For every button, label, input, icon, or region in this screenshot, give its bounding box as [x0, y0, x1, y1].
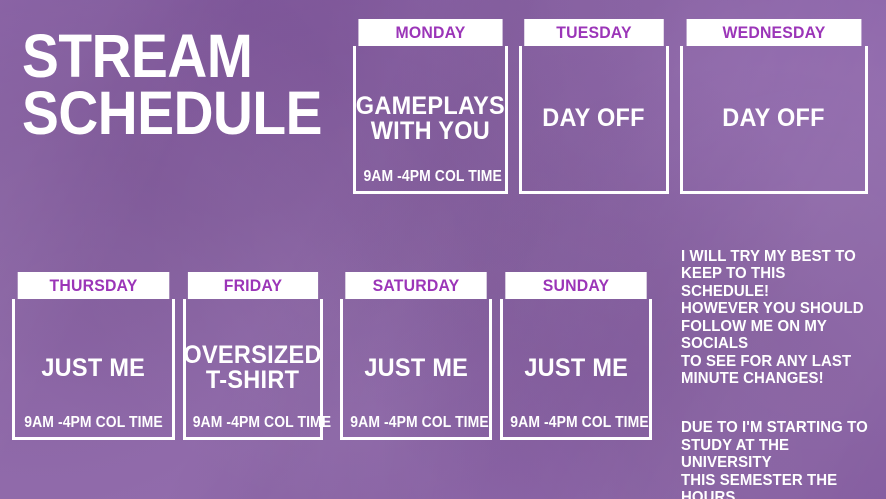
schedule-card-sunday: SUNDAY JUST ME 9AM -4PM COL TIME	[500, 272, 652, 440]
card-body-wednesday: DAY OFF	[680, 46, 868, 194]
activity-sunday: JUST ME	[524, 356, 628, 381]
schedule-card-saturday: SATURDAY JUST ME 9AM -4PM COL TIME	[340, 272, 492, 440]
day-label-sunday: SUNDAY	[505, 272, 646, 299]
schedule-card-tuesday: TUESDAY DAY OFF	[519, 19, 669, 194]
schedule-card-friday: FRIDAY OVERSIZED T-SHIRT 9AM -4PM COL TI…	[183, 272, 323, 440]
time-sunday: 9AM -4PM COL TIME	[510, 415, 641, 431]
day-label-friday: FRIDAY	[188, 272, 318, 299]
schedule-card-wednesday: WEDNESDAY DAY OFF	[680, 19, 868, 194]
time-thursday: 9AM -4PM COL TIME	[23, 415, 164, 431]
day-label-monday: MONDAY	[358, 19, 502, 46]
card-body-friday: OVERSIZED T-SHIRT 9AM -4PM COL TIME	[183, 299, 323, 440]
schedule-card-thursday: THURSDAY JUST ME 9AM -4PM COL TIME	[12, 272, 175, 440]
activity-monday: GAMEPLAYS WITH YOU	[356, 94, 505, 144]
activity-tuesday: DAY OFF	[543, 106, 646, 131]
card-body-thursday: JUST ME 9AM -4PM COL TIME	[12, 299, 175, 440]
schedule-card-monday: MONDAY GAMEPLAYS WITH YOU 9AM -4PM COL T…	[353, 19, 508, 194]
card-body-saturday: JUST ME 9AM -4PM COL TIME	[340, 299, 492, 440]
activity-thursday: JUST ME	[42, 356, 146, 381]
day-label-wednesday: WEDNESDAY	[687, 19, 862, 46]
card-body-sunday: JUST ME 9AM -4PM COL TIME	[500, 299, 652, 440]
day-label-saturday: SATURDAY	[345, 272, 486, 299]
activity-friday: OVERSIZED T-SHIRT	[184, 343, 322, 393]
note-paragraph-1: I WILL TRY MY BEST TO KEEP TO THIS SCHED…	[681, 248, 868, 388]
time-friday: 9AM -4PM COL TIME	[193, 415, 314, 431]
day-label-tuesday: TUESDAY	[524, 19, 664, 46]
activity-wednesday: DAY OFF	[723, 106, 826, 131]
time-monday: 9AM -4PM COL TIME	[363, 169, 497, 185]
time-saturday: 9AM -4PM COL TIME	[350, 415, 481, 431]
schedule-note: I WILL TRY MY BEST TO KEEP TO THIS SCHED…	[681, 230, 868, 499]
stream-schedule-poster: STREAM SCHEDULE MONDAY GAMEPLAYS WITH YO…	[0, 0, 886, 499]
note-paragraph-2: DUE TO I'M STARTING TO STUDY AT THE UNIV…	[681, 419, 868, 499]
card-body-tuesday: DAY OFF	[519, 46, 669, 194]
day-label-thursday: THURSDAY	[18, 272, 170, 299]
activity-saturday: JUST ME	[364, 356, 468, 381]
card-body-monday: GAMEPLAYS WITH YOU 9AM -4PM COL TIME	[353, 46, 508, 194]
page-title: STREAM SCHEDULE	[22, 28, 321, 142]
